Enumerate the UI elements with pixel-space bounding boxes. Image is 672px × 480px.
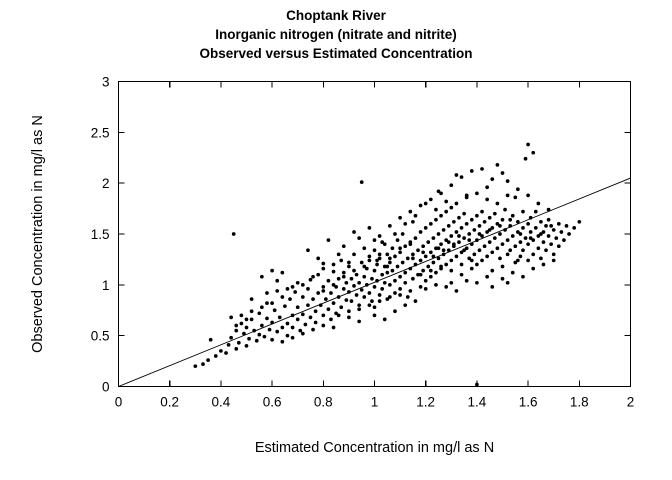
- data-point: [467, 238, 471, 242]
- data-point: [286, 334, 290, 338]
- data-point: [426, 265, 430, 269]
- data-point: [378, 234, 382, 238]
- data-point: [380, 273, 384, 277]
- data-point: [332, 301, 336, 305]
- data-point: [414, 263, 418, 267]
- data-point: [519, 232, 523, 236]
- data-point: [270, 338, 274, 342]
- data-point: [419, 230, 423, 234]
- data-point: [383, 242, 387, 246]
- data-point: [365, 283, 369, 287]
- data-point: [298, 329, 302, 333]
- data-point: [465, 196, 469, 200]
- data-point: [524, 236, 528, 240]
- data-point: [503, 228, 507, 232]
- data-point: [437, 246, 441, 250]
- data-point: [424, 202, 428, 206]
- data-point: [531, 151, 535, 155]
- data-point: [444, 285, 448, 289]
- data-point: [304, 323, 308, 327]
- data-point: [526, 259, 530, 263]
- data-point: [455, 255, 459, 259]
- data-point: [257, 311, 261, 315]
- data-point: [447, 240, 451, 244]
- data-point: [434, 283, 438, 287]
- data-point: [329, 291, 333, 295]
- data-point: [526, 222, 530, 226]
- data-point: [470, 169, 474, 173]
- data-point: [316, 291, 320, 295]
- data-point: [414, 236, 418, 240]
- data-point: [452, 220, 456, 224]
- data-point: [411, 277, 415, 281]
- data-point: [306, 303, 310, 307]
- data-point: [511, 234, 515, 238]
- data-point: [398, 216, 402, 220]
- data-point: [391, 269, 395, 273]
- data-point: [250, 297, 254, 301]
- data-point: [516, 259, 520, 263]
- top-axis-ticks: [119, 82, 631, 88]
- data-point: [362, 295, 366, 299]
- data-point: [357, 281, 361, 285]
- data-point: [329, 318, 333, 322]
- data-point: [508, 218, 512, 222]
- data-point: [557, 244, 561, 248]
- data-point: [350, 277, 354, 281]
- data-point: [242, 332, 246, 336]
- data-point: [257, 333, 261, 337]
- data-point: [360, 180, 364, 184]
- data-point: [337, 252, 341, 256]
- data-point: [501, 277, 505, 281]
- data-point: [237, 341, 241, 345]
- data-point: [526, 143, 530, 147]
- data-point: [539, 257, 543, 261]
- data-point: [240, 313, 244, 317]
- data-point: [498, 224, 502, 228]
- data-point: [475, 238, 479, 242]
- data-point: [483, 244, 487, 248]
- data-point: [547, 218, 551, 222]
- data-point: [347, 309, 351, 313]
- data-point: [383, 318, 387, 322]
- data-points: [193, 143, 581, 387]
- data-point: [478, 248, 482, 252]
- data-point: [370, 299, 374, 303]
- data-point: [280, 271, 284, 275]
- data-point: [355, 293, 359, 297]
- data-point: [388, 257, 392, 261]
- data-point: [511, 271, 515, 275]
- data-point: [536, 202, 540, 206]
- data-point: [229, 316, 233, 320]
- data-point: [291, 326, 295, 330]
- data-point: [398, 275, 402, 279]
- data-point: [472, 252, 476, 256]
- data-point: [403, 303, 407, 307]
- data-point: [562, 238, 566, 242]
- data-point: [475, 263, 479, 267]
- data-point: [296, 281, 300, 285]
- data-point: [234, 329, 238, 333]
- data-point: [337, 295, 341, 299]
- y-axis-ticks: [119, 82, 125, 387]
- data-point: [332, 326, 336, 330]
- data-point: [342, 287, 346, 291]
- data-point: [506, 238, 510, 242]
- data-point: [531, 252, 535, 256]
- data-point: [444, 210, 448, 214]
- data-point: [521, 275, 525, 279]
- data-point: [513, 244, 517, 248]
- data-point: [460, 273, 464, 277]
- data-point: [449, 206, 453, 210]
- data-point: [362, 275, 366, 279]
- data-point: [286, 322, 290, 326]
- y-tick-label-5: 2.5: [91, 125, 110, 140]
- data-point: [232, 232, 236, 236]
- data-point: [429, 198, 433, 202]
- data-point: [265, 317, 269, 321]
- data-point: [531, 267, 535, 271]
- data-point: [360, 288, 364, 292]
- data-point: [291, 285, 295, 289]
- data-point: [352, 284, 356, 288]
- data-point: [380, 287, 384, 291]
- data-point: [385, 271, 389, 275]
- data-point: [321, 289, 325, 293]
- data-point: [332, 283, 336, 287]
- data-point: [201, 362, 205, 366]
- data-point: [357, 303, 361, 307]
- data-point: [511, 214, 515, 218]
- data-point: [388, 261, 392, 265]
- data-point: [229, 336, 233, 340]
- data-point: [206, 358, 210, 362]
- data-point: [442, 228, 446, 232]
- data-point: [429, 250, 433, 254]
- data-point: [449, 269, 453, 273]
- data-point: [526, 242, 530, 246]
- data-point: [352, 252, 356, 256]
- data-point: [288, 297, 292, 301]
- data-point: [449, 281, 453, 285]
- data-point: [501, 171, 505, 175]
- data-point: [368, 226, 372, 230]
- data-point: [270, 321, 274, 325]
- data-point: [408, 267, 412, 271]
- data-point: [309, 316, 313, 320]
- data-point: [321, 313, 325, 317]
- data-point: [385, 265, 389, 269]
- data-point: [447, 224, 451, 228]
- data-point: [437, 257, 441, 261]
- data-point: [265, 301, 269, 305]
- data-point: [519, 240, 523, 244]
- data-point: [478, 232, 482, 236]
- data-point: [301, 283, 305, 287]
- y-tick-label-0: 0: [102, 380, 110, 395]
- data-point: [519, 255, 523, 259]
- data-point: [534, 210, 538, 214]
- data-point: [263, 335, 267, 339]
- data-point: [460, 175, 464, 179]
- data-point: [460, 226, 464, 230]
- data-point: [291, 336, 295, 340]
- data-point: [403, 222, 407, 226]
- data-point: [406, 295, 410, 299]
- data-point: [357, 236, 361, 240]
- data-point: [265, 291, 269, 295]
- data-point: [280, 295, 284, 299]
- data-point: [411, 257, 415, 261]
- data-point: [521, 210, 525, 214]
- data-point: [455, 289, 459, 293]
- data-point: [444, 200, 448, 204]
- data-point: [429, 222, 433, 226]
- data-point: [488, 216, 492, 220]
- data-point: [406, 257, 410, 261]
- data-point: [455, 202, 459, 206]
- data-point: [490, 285, 494, 289]
- data-point: [314, 309, 318, 313]
- data-point: [552, 259, 556, 263]
- data-point: [501, 265, 505, 269]
- data-point: [552, 228, 556, 232]
- data-point: [332, 270, 336, 274]
- data-point: [419, 204, 423, 208]
- data-point: [347, 316, 351, 320]
- x-axis-tick-labels: 00.20.40.60.811.21.41.61.82: [115, 395, 635, 410]
- data-point: [240, 322, 244, 326]
- data-point: [193, 364, 197, 368]
- data-point: [391, 246, 395, 250]
- data-point: [396, 238, 400, 242]
- data-point: [275, 279, 279, 283]
- data-point: [408, 289, 412, 293]
- data-point: [439, 214, 443, 218]
- data-point: [344, 298, 348, 302]
- data-point: [424, 226, 428, 230]
- data-point: [506, 281, 510, 285]
- data-point: [393, 291, 397, 295]
- data-point: [432, 261, 436, 265]
- data-point: [472, 228, 476, 232]
- data-point: [401, 261, 405, 265]
- data-point: [480, 167, 484, 171]
- data-point: [373, 238, 377, 242]
- data-point: [516, 187, 520, 191]
- data-point: [529, 230, 533, 234]
- data-point: [439, 242, 443, 246]
- data-point: [393, 255, 397, 259]
- data-point: [549, 224, 553, 228]
- data-point: [378, 299, 382, 303]
- data-point: [337, 313, 341, 317]
- data-point: [393, 309, 397, 313]
- data-point: [373, 313, 377, 317]
- data-point: [449, 234, 453, 238]
- data-point: [421, 250, 425, 254]
- y-tick-label-3: 1.5: [91, 227, 110, 242]
- data-point: [408, 242, 412, 246]
- data-point: [311, 328, 315, 332]
- data-point: [280, 326, 284, 330]
- data-point: [316, 257, 320, 261]
- data-point: [360, 261, 364, 265]
- data-point: [419, 285, 423, 289]
- data-point: [429, 275, 433, 279]
- data-point: [480, 259, 484, 263]
- data-point: [488, 228, 492, 232]
- data-point: [327, 307, 331, 311]
- data-point: [286, 287, 290, 291]
- data-point: [470, 259, 474, 263]
- y-tick-label-6: 3: [102, 75, 110, 90]
- data-point: [457, 240, 461, 244]
- data-point: [401, 232, 405, 236]
- data-point: [327, 279, 331, 283]
- data-point: [393, 279, 397, 283]
- data-point: [529, 236, 533, 240]
- data-point: [270, 269, 274, 273]
- data-point: [275, 289, 279, 293]
- data-point: [362, 265, 366, 269]
- data-point: [224, 351, 228, 355]
- scatter-plot-figure: Choptank River Inorganic nitrogen (nitra…: [0, 0, 672, 480]
- data-point: [577, 220, 581, 224]
- data-point: [480, 210, 484, 214]
- x-tick-label-4: 0.8: [314, 395, 333, 410]
- data-point: [521, 226, 525, 230]
- data-point: [347, 265, 351, 269]
- x-tick-label-9: 1.8: [570, 395, 589, 410]
- data-point: [490, 269, 494, 273]
- data-point: [209, 338, 213, 342]
- data-point: [296, 318, 300, 322]
- data-point: [296, 305, 300, 309]
- data-point: [508, 248, 512, 252]
- data-point: [496, 202, 500, 206]
- data-point: [434, 271, 438, 275]
- data-point: [368, 259, 372, 263]
- data-point: [444, 263, 448, 267]
- data-point: [219, 349, 223, 353]
- data-point: [280, 340, 284, 344]
- data-point: [539, 232, 543, 236]
- data-point: [388, 295, 392, 299]
- data-point: [424, 279, 428, 283]
- data-point: [572, 226, 576, 230]
- plot-canvas: 00.511.522.53 00.20.40.60.811.21.41.61.8…: [0, 0, 672, 480]
- data-point: [368, 255, 372, 259]
- data-point: [506, 252, 510, 256]
- data-point: [339, 259, 343, 263]
- data-point: [470, 218, 474, 222]
- data-point: [375, 259, 379, 263]
- data-point: [442, 248, 446, 252]
- data-point: [396, 265, 400, 269]
- data-point: [460, 263, 464, 267]
- data-point: [388, 283, 392, 287]
- data-point: [378, 252, 382, 256]
- data-point: [293, 290, 297, 294]
- data-point: [283, 304, 287, 308]
- data-point: [368, 303, 372, 307]
- data-point: [549, 242, 553, 246]
- data-point: [321, 285, 325, 289]
- data-point: [432, 236, 436, 240]
- data-point: [368, 291, 372, 295]
- data-point: [485, 198, 489, 202]
- data-point: [321, 324, 325, 328]
- data-point: [398, 293, 402, 297]
- data-point: [475, 281, 479, 285]
- data-point: [434, 218, 438, 222]
- data-point: [421, 244, 425, 248]
- y-tick-label-2: 1: [102, 278, 110, 293]
- data-point: [342, 275, 346, 279]
- data-point: [370, 277, 374, 281]
- data-point: [437, 232, 441, 236]
- data-point: [332, 263, 336, 267]
- data-point: [403, 244, 407, 248]
- x-tick-label-1: 0.2: [160, 395, 179, 410]
- data-point: [439, 265, 443, 269]
- reference-line-one-to-one: [119, 178, 631, 386]
- data-point: [301, 295, 305, 299]
- x-tick-label-2: 0.4: [212, 395, 231, 410]
- data-point: [357, 320, 361, 324]
- data-point: [470, 242, 474, 246]
- data-point: [449, 183, 453, 187]
- data-point: [321, 262, 325, 266]
- data-point: [398, 246, 402, 250]
- data-point: [470, 267, 474, 271]
- data-point: [565, 224, 569, 228]
- data-point: [485, 275, 489, 279]
- data-point: [385, 252, 389, 256]
- data-point: [411, 220, 415, 224]
- data-point: [455, 173, 459, 177]
- data-point: [373, 305, 377, 309]
- data-point: [350, 299, 354, 303]
- data-point: [419, 259, 423, 263]
- data-point: [424, 255, 428, 259]
- data-point: [506, 179, 510, 183]
- data-point: [250, 318, 254, 322]
- plot-frame: [119, 82, 631, 387]
- data-point: [301, 332, 305, 336]
- data-point: [513, 196, 517, 200]
- data-point: [542, 263, 546, 267]
- data-point: [327, 238, 331, 242]
- data-point: [524, 157, 528, 161]
- data-point: [447, 248, 451, 252]
- data-point: [301, 312, 305, 316]
- data-point: [260, 305, 264, 309]
- data-point: [475, 214, 479, 218]
- data-point: [539, 220, 543, 224]
- data-point: [342, 271, 346, 275]
- data-point: [426, 240, 430, 244]
- data-point: [496, 163, 500, 167]
- data-point: [273, 308, 277, 312]
- data-point: [309, 278, 313, 282]
- x-tick-label-0: 0: [115, 395, 123, 410]
- data-point: [488, 240, 492, 244]
